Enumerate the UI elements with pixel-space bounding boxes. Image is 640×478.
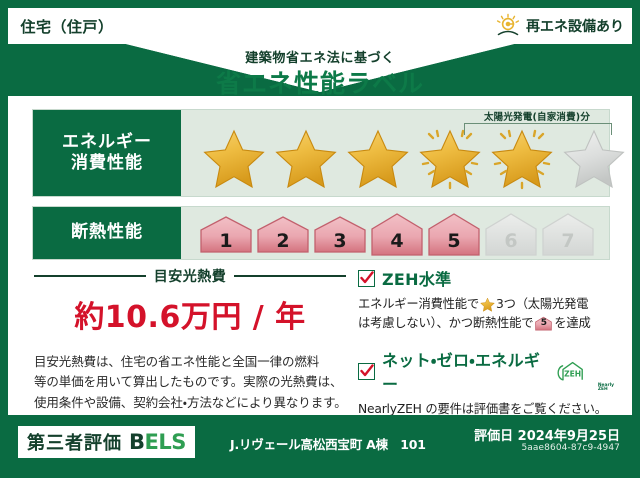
utility-cost-value: 約10.6万円 / 年 (34, 292, 346, 336)
utility-cost-heading: 目安光熱費 (154, 266, 227, 286)
net-zero-energy-checkbox (358, 363, 375, 380)
bels-letter-b: B (129, 430, 145, 454)
page-title: 省エネ性能ラベル (8, 64, 632, 96)
zeh-logo-sub2: ZEH (598, 387, 608, 392)
star-rating (199, 124, 629, 190)
bels-wordmark: BELS (129, 430, 186, 454)
insulation-performance-row: 断熱性能 (32, 206, 610, 260)
property-name: J.リヴェール高松西宝町 A棟 101 (230, 434, 426, 453)
check-icon (360, 271, 374, 285)
heading-rule-left (34, 275, 146, 277)
dwelling-type-label: 住宅（住戸） (20, 16, 113, 37)
svg-text:ZEH: ZEH (564, 370, 581, 379)
zeh-standard-header: ZEH水準 (358, 266, 614, 290)
star-icon (562, 128, 626, 188)
insulation-level-2: 2 (256, 217, 310, 257)
third-party-evaluation-label: 第三者評価 (27, 429, 122, 455)
star-filled-3 (343, 124, 413, 190)
zeh-standard-line1-b: 3つ（太陽光発電 (496, 295, 588, 314)
net-zero-energy-header: ネット・ゼロ・エネルギー ZEH Nearly ZEH (358, 347, 614, 395)
zeh-standard-body: エネルギー消費性能で 3つ（太陽光発電 は考慮しない）、かつ断熱性能で 5 (358, 295, 614, 333)
insulation-performance-label-box: 断熱性能 (33, 207, 181, 259)
net-zero-energy-title: ネット・ゼロ・エネルギー (382, 347, 544, 395)
insulation-level-number: 2 (256, 230, 310, 252)
insulation-label: 断熱性能 (71, 222, 143, 243)
zeh-standard-title: ZEH水準 (382, 266, 451, 290)
energy-performance-row: エネルギー 消費性能 太陽光発電(自家消費)分 (32, 109, 610, 197)
energy-performance-body: 太陽光発電(自家消費)分 (181, 110, 609, 196)
net-zero-energy-claim: ネット・ゼロ・エネルギー ZEH Nearly ZEH NearlyZEH の要… (358, 347, 614, 419)
inline-house-number: 5 (535, 317, 552, 331)
insulation-level-5: 5 (427, 211, 481, 257)
utility-cost-desc-line2: 等の単価を用いて算出したものです。実際の光熱費は、 (34, 372, 346, 392)
energy-performance-label: 住宅（住戸） 再エネ設備あり (0, 0, 640, 478)
zeh-standard-line1-a: エネルギー消費性能で (358, 295, 479, 314)
insulation-level-number: 7 (541, 230, 595, 252)
star-empty-6 (559, 124, 629, 190)
insulation-level-number: 1 (199, 230, 253, 252)
check-icon (360, 364, 374, 378)
utility-cost-desc-line3: 使用条件や設備、契約会社・方法などにより異なります。 (34, 393, 346, 413)
energy-label-line1: エネルギー (62, 132, 152, 153)
star-icon (202, 128, 266, 188)
zeh-standard-line2-b: を達成 (554, 314, 590, 333)
insulation-level-number: 5 (427, 230, 481, 252)
zeh-standard-line1: エネルギー消費性能で 3つ（太陽光発電 (358, 295, 614, 314)
star-filled-1 (199, 124, 269, 190)
zeh-house-logo-icon: ZEH (555, 360, 590, 382)
insulation-level-number: 6 (484, 230, 538, 252)
evaluation-id: 5aae8604-87c9-4947 (521, 443, 620, 453)
insulation-level-3: 3 (313, 217, 367, 257)
utility-cost-desc-line1: 目安光熱費は、住宅の省エネ性能と全国一律の燃料 (34, 352, 346, 372)
utility-cost-description: 目安光熱費は、住宅の省エネ性能と全国一律の燃料 等の単価を用いて算出したものです… (34, 352, 346, 413)
solar-sparkle-icon (415, 124, 485, 190)
insulation-level-scale: 1 2 3 (199, 211, 595, 257)
star-filled-2 (271, 124, 341, 190)
dwelling-type-tab: 住宅（住戸） (8, 8, 126, 44)
star-icon (346, 128, 410, 188)
star-filled-solar-5 (487, 124, 557, 190)
utility-cost-heading-row: 目安光熱費 (34, 266, 346, 286)
zeh-standard-claim: ZEH水準 エネルギー消費性能で 3つ（太陽光発電 は考慮しない）、かつ断熱性能… (358, 266, 614, 333)
label-inner-page: 住宅（住戸） 再エネ設備あり (8, 8, 632, 470)
utility-cost-block: 目安光熱費 約10.6万円 / 年 目安光熱費は、住宅の省エネ性能と全国一律の燃… (34, 266, 346, 413)
energy-label-line2: 消費性能 (71, 153, 143, 174)
bels-letters-els: ELS (145, 430, 186, 454)
inline-house-level-5: 5 (535, 316, 552, 331)
bels-logo: 第三者評価 BELS (18, 426, 195, 458)
insulation-level-6: 6 (484, 211, 538, 257)
insulation-level-4: 4 (370, 211, 424, 257)
label-header: 住宅（住戸） 再エネ設備あり (8, 8, 632, 96)
star-icon (274, 128, 338, 188)
label-footer: 第三者評価 BELS J.リヴェール高松西宝町 A棟 101 評価日 2024年… (8, 415, 632, 470)
insulation-level-7: 7 (541, 211, 595, 257)
zeh-standard-checkbox (358, 270, 375, 287)
zeh-claims-block: ZEH水準 エネルギー消費性能で 3つ（太陽光発電 は考慮しない）、かつ断熱性能… (358, 266, 614, 419)
renewable-energy-badge: 再エネ設備あり (487, 8, 632, 44)
heading-rule-right (234, 275, 346, 277)
renewable-energy-label: 再エネ設備あり (526, 16, 624, 36)
solar-annotation-text: 太陽光発電(自家消費)分 (457, 109, 617, 123)
insulation-performance-body: 1 2 3 (181, 207, 609, 259)
insulation-level-number: 3 (313, 230, 367, 252)
zeh-standard-line2: は考慮しない）、かつ断熱性能で 5 を達成 (358, 314, 614, 333)
evaluation-date: 評価日 2024年9月25日 (474, 425, 620, 444)
zeh-logo-subtext: Nearly ZEH (598, 384, 614, 393)
solar-sparkle-icon (487, 124, 557, 190)
zeh-standard-line2-a: は考慮しない）、かつ断熱性能で (358, 314, 533, 333)
star-icon (480, 297, 495, 312)
sun-solar-icon (495, 13, 521, 39)
star-filled-solar-4 (415, 124, 485, 190)
insulation-level-1: 1 (199, 217, 253, 257)
energy-performance-label-box: エネルギー 消費性能 (33, 110, 181, 196)
insulation-level-number: 4 (370, 230, 424, 252)
